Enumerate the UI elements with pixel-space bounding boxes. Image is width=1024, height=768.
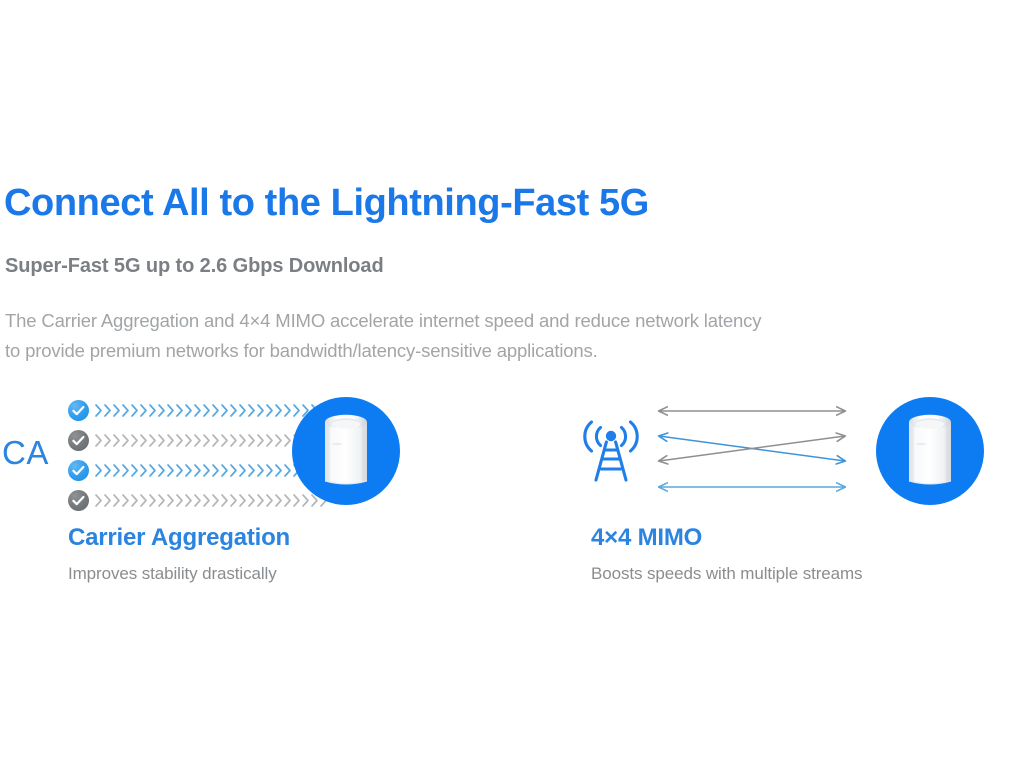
body-line-1: The Carrier Aggregation and 4×4 MIMO acc… bbox=[5, 306, 1024, 336]
body-paragraph: The Carrier Aggregation and 4×4 MIMO acc… bbox=[5, 306, 1024, 366]
check-circle-icon bbox=[68, 490, 89, 511]
cell-tower-icon bbox=[578, 414, 644, 486]
check-circle-icon bbox=[68, 430, 89, 451]
feature-subtitle: Boosts speeds with multiple streams bbox=[591, 562, 862, 586]
router-device-circle bbox=[292, 397, 400, 505]
page-subtitle: Super-Fast 5G up to 2.6 Gbps Download bbox=[5, 253, 384, 279]
mimo-graphic bbox=[560, 390, 1024, 515]
feature-title: 4×4 MIMO bbox=[591, 523, 702, 553]
mimo-stream-arrows bbox=[652, 400, 852, 500]
feature-subtitle: Improves stability drastically bbox=[68, 562, 277, 586]
check-circle-icon bbox=[68, 460, 89, 481]
check-circle-icon bbox=[68, 400, 89, 421]
router-device-circle bbox=[876, 397, 984, 505]
carrier-aggregation-graphic bbox=[0, 390, 512, 515]
page-title: Connect All to the Lightning-Fast 5G bbox=[4, 180, 649, 226]
body-line-2: to provide premium networks for bandwidt… bbox=[5, 336, 1024, 366]
feature-title: Carrier Aggregation bbox=[68, 523, 290, 553]
feature-panel: Connect All to the Lightning-Fast 5G Sup… bbox=[0, 0, 1024, 768]
